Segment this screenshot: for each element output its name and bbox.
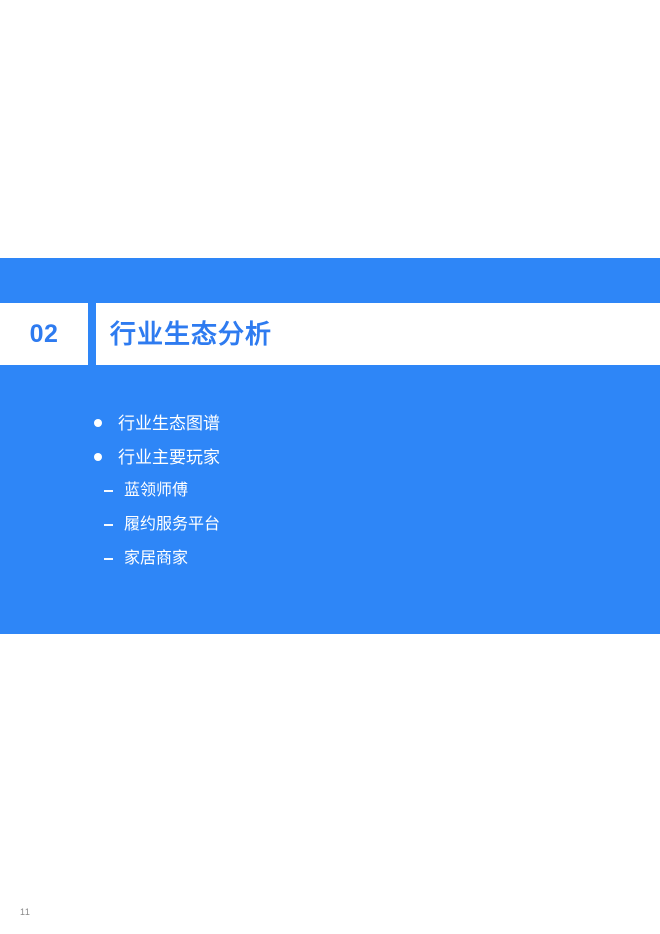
bullet-dash-icon	[104, 490, 113, 492]
agenda-item-label: 家居商家	[124, 551, 188, 567]
section-title-band: 02 行业生态分析	[0, 303, 660, 365]
agenda-item-label: 行业生态图谱	[118, 415, 220, 432]
bullet-dot-icon	[94, 419, 102, 427]
bullet-dot-icon	[94, 453, 102, 461]
list-item: 履约服务平台	[0, 508, 660, 542]
bullet-dash-icon	[104, 558, 113, 560]
agenda-item-label: 蓝领师傅	[124, 483, 188, 499]
section-number: 02	[0, 322, 88, 347]
section-divider-slide: 02 行业生态分析 行业生态图谱 行业主要玩家 蓝领师傅 履约服务平台 家居商家	[0, 258, 660, 634]
agenda-list: 行业生态图谱 行业主要玩家 蓝领师傅 履约服务平台 家居商家	[0, 406, 660, 576]
list-item: 蓝领师傅	[0, 474, 660, 508]
bullet-dash-icon	[104, 524, 113, 526]
agenda-item-label: 履约服务平台	[124, 517, 220, 533]
page-number: 11	[20, 908, 30, 917]
agenda-item-label: 行业主要玩家	[118, 449, 220, 466]
section-title: 行业生态分析	[96, 321, 272, 347]
title-divider-bar	[88, 303, 96, 365]
list-item: 行业生态图谱	[0, 406, 660, 440]
list-item: 行业主要玩家	[0, 440, 660, 474]
list-item: 家居商家	[0, 542, 660, 576]
